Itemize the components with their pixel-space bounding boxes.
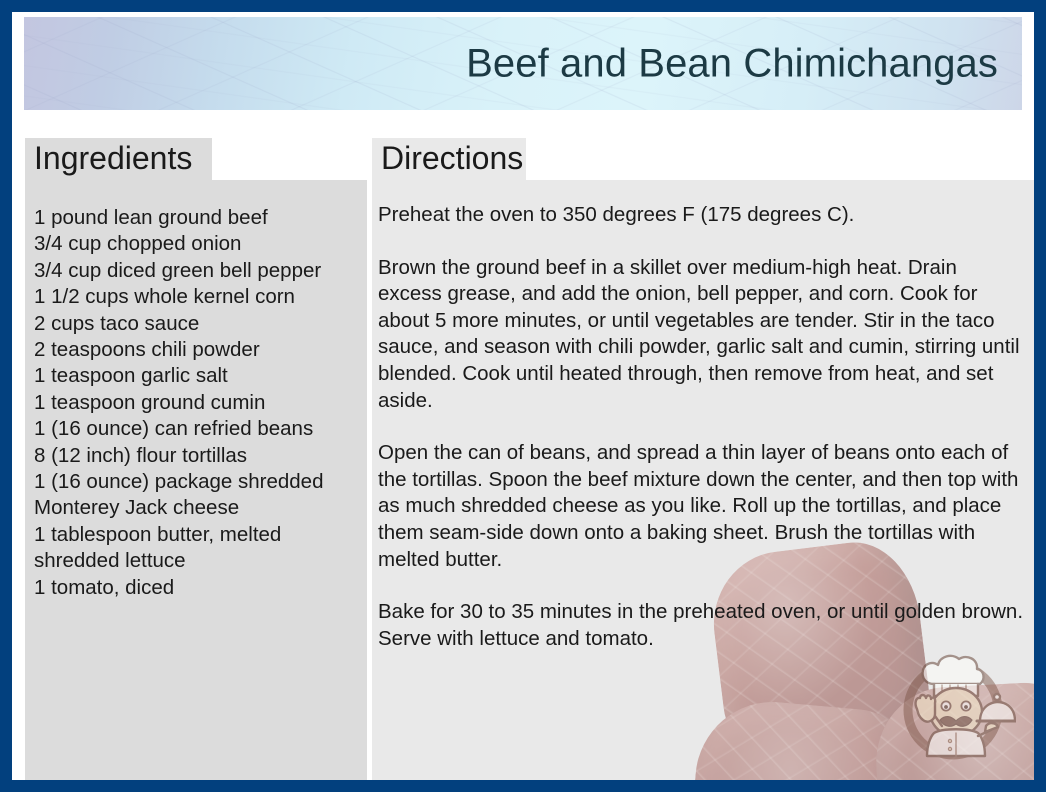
ingredient-item: 1 (16 ounce) can refried beans (34, 416, 361, 442)
ingredient-item: Monterey Jack cheese (34, 495, 361, 521)
ingredients-heading: Ingredients (34, 140, 192, 177)
ingredient-item: 2 cups taco sauce (34, 311, 361, 337)
direction-paragraph: Preheat the oven to 350 degrees F (175 d… (378, 202, 1024, 229)
ingredient-item: 8 (12 inch) flour tortillas (34, 443, 361, 469)
ingredients-tab: Ingredients (25, 138, 212, 180)
ingredient-item: 2 teaspoons chili powder (34, 337, 361, 363)
page-title: Beef and Bean Chimichangas (466, 41, 998, 86)
directions-tab: Directions (372, 138, 526, 180)
ingredient-item: 1 1/2 cups whole kernel corn (34, 284, 361, 310)
recipe-card: Beef and Bean Chimichangas Ingredients 1… (0, 0, 1046, 792)
ingredient-item: shredded lettuce (34, 548, 361, 574)
direction-paragraph: Open the can of beans, and spread a thin… (378, 440, 1024, 573)
ingredient-item: 1 tomato, diced (34, 575, 361, 601)
title-banner: Beef and Bean Chimichangas (24, 17, 1022, 110)
ingredient-item: 3/4 cup chopped onion (34, 231, 361, 257)
directions-heading: Directions (381, 140, 523, 177)
ingredient-item: 1 tablespoon butter, melted (34, 522, 361, 548)
ingredients-list: 1 pound lean ground beef3/4 cup chopped … (34, 205, 361, 601)
ingredient-item: 1 pound lean ground beef (34, 205, 361, 231)
direction-paragraph: Brown the ground beef in a skillet over … (378, 255, 1024, 415)
ingredient-item: 1 teaspoon garlic salt (34, 363, 361, 389)
ingredient-item: 3/4 cup diced green bell pepper (34, 258, 361, 284)
directions-text: Preheat the oven to 350 degrees F (175 d… (378, 202, 1024, 652)
ingredient-item: 1 (16 ounce) package shredded (34, 469, 361, 495)
ingredient-item: 1 teaspoon ground cumin (34, 390, 361, 416)
ingredients-panel: 1 pound lean ground beef3/4 cup chopped … (25, 180, 367, 788)
chef-mascot-logo (890, 640, 1016, 766)
